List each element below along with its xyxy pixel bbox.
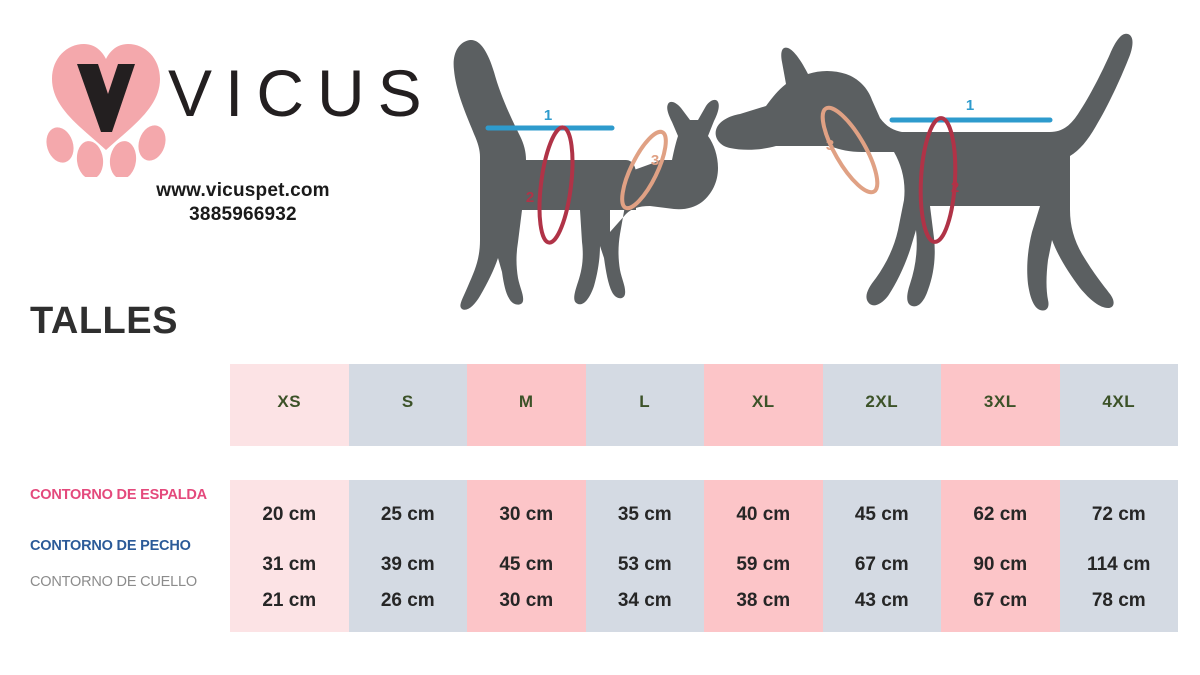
measure-cell: 53 cm <box>586 554 705 576</box>
measure-cell: 26 cm <box>349 590 468 612</box>
dog-silhouette-icon <box>716 34 1133 311</box>
measure-cell: 67 cm <box>941 590 1060 612</box>
size-column-4xl: 4XL <box>1060 364 1179 446</box>
row-label-neck-contour: CONTORNO DE CUELLO <box>30 574 225 590</box>
measure-cell: 25 cm <box>349 504 468 526</box>
measure-cell: 90 cm <box>941 554 1060 576</box>
measure-cell: 67 cm <box>823 554 942 576</box>
svg-text:1: 1 <box>966 97 974 114</box>
size-header-label: M <box>467 392 586 412</box>
svg-text:2: 2 <box>526 189 534 206</box>
measure-cell: 31 cm <box>230 554 349 576</box>
size-data-column-m: 30 cm 45 cm 30 cm <box>467 480 586 632</box>
measure-cell: 72 cm <box>1060 504 1179 526</box>
size-column-xl: XL <box>704 364 823 446</box>
size-table-header-row: XS S M L XL 2XL 3XL 4XL <box>230 364 1178 446</box>
measure-cell: 59 cm <box>704 554 823 576</box>
measure-cell: 45 cm <box>823 504 942 526</box>
brand-logo: VICUS www.vicuspet.com 3885966932 <box>38 32 368 232</box>
size-header-label: 2XL <box>823 392 942 412</box>
size-column-m: M <box>467 364 586 446</box>
measure-cell: 62 cm <box>941 504 1060 526</box>
size-column-xs: XS <box>230 364 349 446</box>
size-column-3xl: 3XL <box>941 364 1060 446</box>
size-header-label: XL <box>704 392 823 412</box>
size-header-label: XS <box>230 392 349 412</box>
page-title: TALLES <box>30 300 178 343</box>
size-data-column-xl: 40 cm 59 cm 38 cm <box>704 480 823 632</box>
size-header-label: S <box>349 392 468 412</box>
row-label-back-contour: CONTORNO DE ESPALDA <box>30 487 225 503</box>
svg-text:2: 2 <box>951 179 959 196</box>
size-header-label: L <box>586 392 705 412</box>
measure-cell: 30 cm <box>467 590 586 612</box>
svg-text:3: 3 <box>651 152 659 169</box>
pet-measurement-diagram: 1 2 3 1 2 3 <box>410 10 1150 330</box>
size-column-2xl: 2XL <box>823 364 942 446</box>
brand-phone: 3885966932 <box>118 204 368 226</box>
size-header-label: 4XL <box>1060 392 1179 412</box>
size-column-l: L <box>586 364 705 446</box>
size-data-column-xs: 20 cm 31 cm 21 cm <box>230 480 349 632</box>
svg-text:3: 3 <box>826 137 834 154</box>
measure-cell: 78 cm <box>1060 590 1179 612</box>
measure-cell: 34 cm <box>586 590 705 612</box>
dog-measure-1: 1 <box>892 97 1050 120</box>
size-header-label: 3XL <box>941 392 1060 412</box>
size-table-data-rows: 20 cm 31 cm 21 cm 25 cm 39 cm 26 cm 30 c… <box>230 480 1178 632</box>
measure-cell: 21 cm <box>230 590 349 612</box>
size-data-column-3xl: 62 cm 90 cm 67 cm <box>941 480 1060 632</box>
measure-cell: 114 cm <box>1060 554 1179 576</box>
size-column-s: S <box>349 364 468 446</box>
measure-cell: 35 cm <box>586 504 705 526</box>
measure-cell: 40 cm <box>704 504 823 526</box>
size-chart-table: XS S M L XL 2XL 3XL 4XL 20 cm 31 cm 21 c… <box>230 364 1178 632</box>
svg-text:1: 1 <box>544 107 552 124</box>
size-data-column-4xl: 72 cm 114 cm 78 cm <box>1060 480 1179 632</box>
measure-cell: 43 cm <box>823 590 942 612</box>
measure-cell: 30 cm <box>467 504 586 526</box>
size-data-column-s: 25 cm 39 cm 26 cm <box>349 480 468 632</box>
measure-cell: 20 cm <box>230 504 349 526</box>
cat-silhouette-icon <box>454 40 719 310</box>
brand-website: www.vicuspet.com <box>118 180 368 202</box>
row-label-chest-contour: CONTORNO DE PECHO <box>30 538 225 554</box>
size-data-column-2xl: 45 cm 67 cm 43 cm <box>823 480 942 632</box>
measure-cell: 38 cm <box>704 590 823 612</box>
measure-cell: 45 cm <box>467 554 586 576</box>
measure-cell: 39 cm <box>349 554 468 576</box>
size-data-column-l: 35 cm 53 cm 34 cm <box>586 480 705 632</box>
brand-wordmark: VICUS <box>168 60 435 126</box>
heart-paw-icon <box>46 32 166 177</box>
